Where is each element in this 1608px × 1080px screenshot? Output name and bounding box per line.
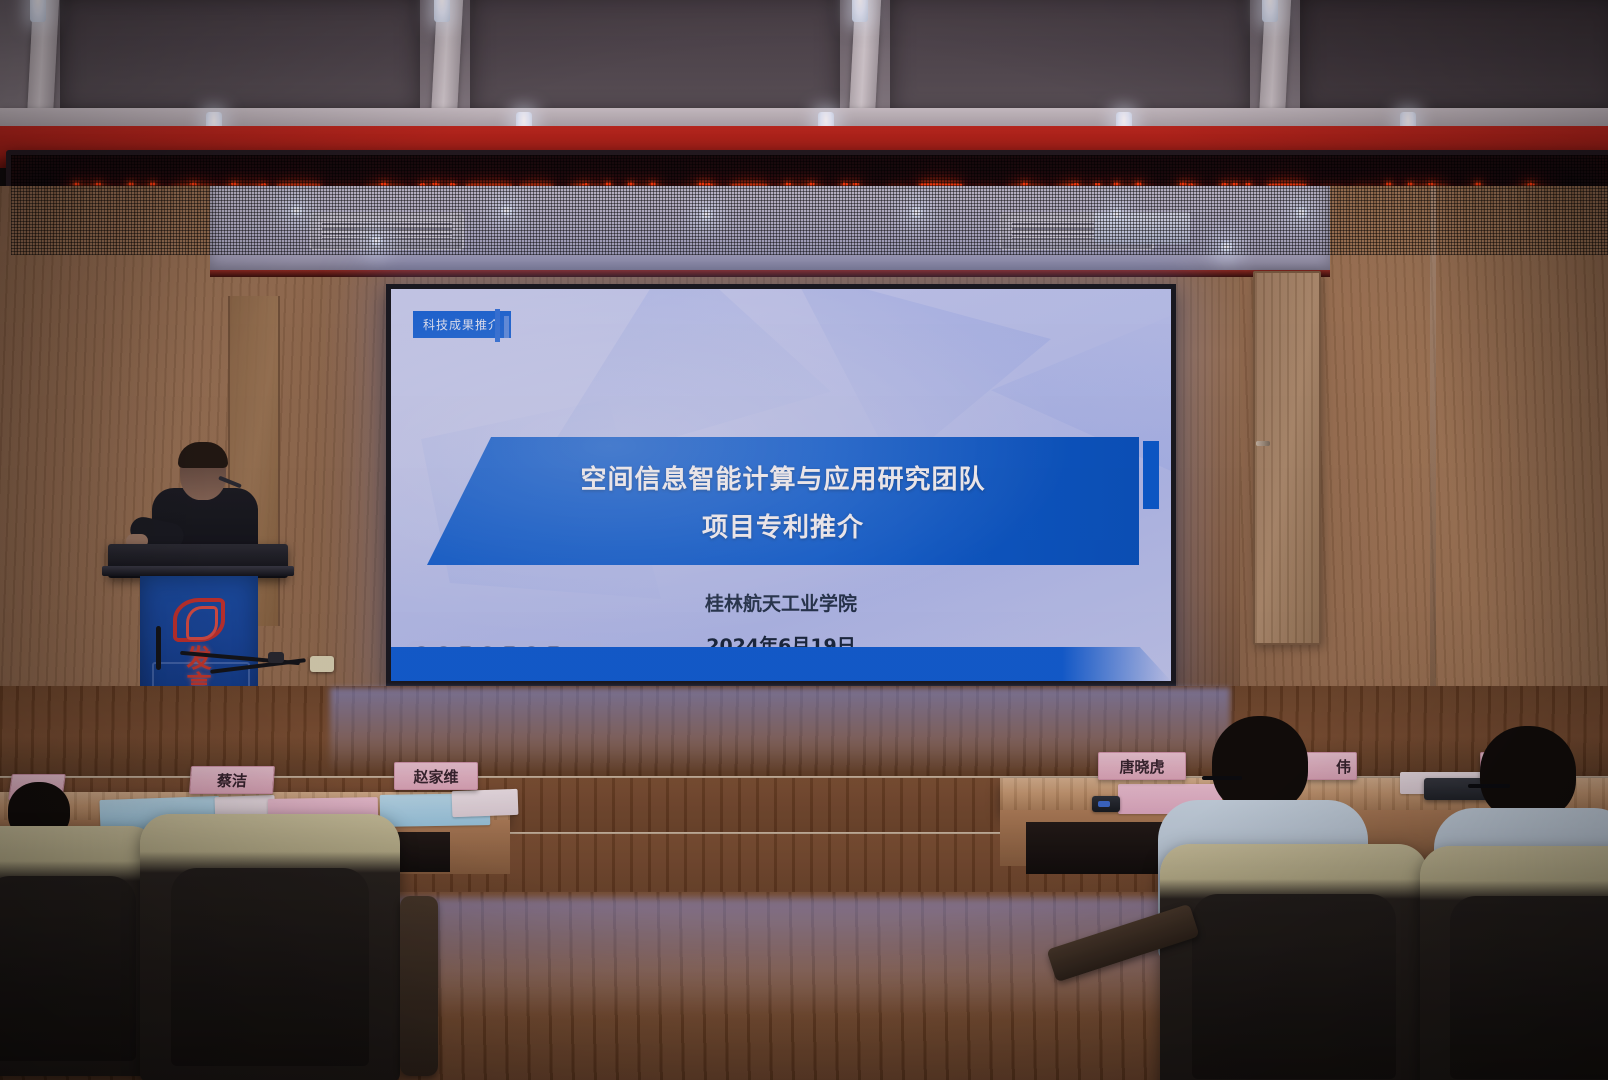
slide-content: 科技成果推介 空间信息智能计算与应用研究团队 项目专利推介 桂林航天工业学院 2… bbox=[391, 289, 1171, 681]
ceiling-light bbox=[30, 0, 46, 22]
ceiling-coffer-panel bbox=[1300, 0, 1608, 112]
room-interior: 科技成果推介 空间信息智能计算与应用研究团队 项目专利推介 桂林航天工业学院 2… bbox=[0, 186, 1608, 1080]
eyeglasses-icon bbox=[1468, 784, 1510, 788]
speaker-hair bbox=[178, 442, 228, 468]
nameplate: 唐晓虎 bbox=[1098, 752, 1186, 780]
ceiling-coffer-panel bbox=[60, 0, 420, 112]
downlight-icon bbox=[1295, 206, 1308, 219]
nameplate: 蔡洁 bbox=[189, 766, 275, 794]
downlight-icon bbox=[500, 204, 513, 217]
power-adapter bbox=[310, 656, 334, 672]
chair-armrest bbox=[400, 896, 438, 1076]
downlight-icon bbox=[370, 234, 383, 247]
person-head bbox=[1480, 726, 1576, 820]
downlight-icon bbox=[1220, 240, 1233, 253]
slide-tag-bar bbox=[495, 309, 500, 342]
chair-backrest bbox=[1450, 896, 1608, 1080]
conference-hall-photo: 桂林高新区“产学研及科技成果转化”暨“专利技术供需”对接大会 bbox=[0, 0, 1608, 1080]
projector-housing bbox=[1094, 212, 1190, 244]
soffit-red-edge bbox=[210, 270, 1330, 277]
podium-ledge bbox=[102, 566, 294, 576]
projection-screen: 科技成果推介 空间信息智能计算与应用研究团队 项目专利推介 桂林航天工业学院 2… bbox=[386, 284, 1176, 686]
wall-corner-edge bbox=[1430, 186, 1436, 746]
downlight-icon bbox=[910, 206, 923, 219]
nameplate-label: 唐晓虎 bbox=[1119, 756, 1164, 777]
audience-chair bbox=[140, 814, 400, 1080]
cable bbox=[156, 626, 161, 670]
door-handle-icon[interactable] bbox=[1256, 441, 1270, 446]
eyeglasses-icon bbox=[1202, 776, 1242, 780]
podium-area: 发 言 席 bbox=[108, 416, 288, 716]
air-conditioner-vent bbox=[310, 212, 464, 250]
desk-paper bbox=[452, 789, 519, 817]
side-door[interactable] bbox=[1253, 271, 1321, 645]
ceiling-coffer-panel bbox=[890, 0, 1250, 118]
slide-title-band: 空间信息智能计算与应用研究团队 项目专利推介 bbox=[427, 437, 1139, 565]
podium-char-1: 发 bbox=[186, 646, 211, 672]
slide-title-line1: 空间信息智能计算与应用研究团队 bbox=[427, 459, 1139, 496]
slide-bottom-band bbox=[391, 647, 1171, 681]
nameplate-label: 蔡洁 bbox=[216, 770, 247, 791]
slide-corner-tag-label: 科技成果推介 bbox=[423, 316, 501, 333]
audience-chair bbox=[0, 826, 160, 1076]
nameplate-label: 伟 bbox=[1336, 756, 1351, 777]
chair-backrest bbox=[171, 868, 369, 1066]
ceiling-soffit bbox=[210, 186, 1330, 272]
chair-backrest bbox=[0, 876, 136, 1061]
downlight-icon bbox=[290, 204, 303, 217]
nameplate: 赵家维 bbox=[394, 762, 478, 790]
audience-chair bbox=[1420, 846, 1608, 1080]
slide-tag-bar bbox=[504, 316, 509, 338]
mobile-phone[interactable] bbox=[1092, 796, 1120, 812]
downlight-icon bbox=[1110, 208, 1123, 221]
downlight-icon bbox=[700, 208, 713, 221]
slide-title-line2: 项目专利推介 bbox=[427, 507, 1139, 544]
ceiling-light bbox=[434, 0, 450, 22]
ceiling-light bbox=[1262, 0, 1278, 22]
cable-connector bbox=[268, 652, 284, 663]
audience-chair bbox=[1160, 844, 1428, 1080]
slide-band-tab bbox=[1143, 441, 1159, 509]
ceiling-light bbox=[852, 0, 868, 22]
slide-organization: 桂林航天工业学院 bbox=[391, 589, 1171, 616]
nameplate-label: 赵家维 bbox=[413, 766, 458, 787]
podium-logo-icon bbox=[173, 598, 225, 642]
person-head bbox=[1212, 716, 1308, 812]
chair-backrest bbox=[1192, 894, 1396, 1079]
ceiling-coffer-panel bbox=[470, 0, 840, 116]
